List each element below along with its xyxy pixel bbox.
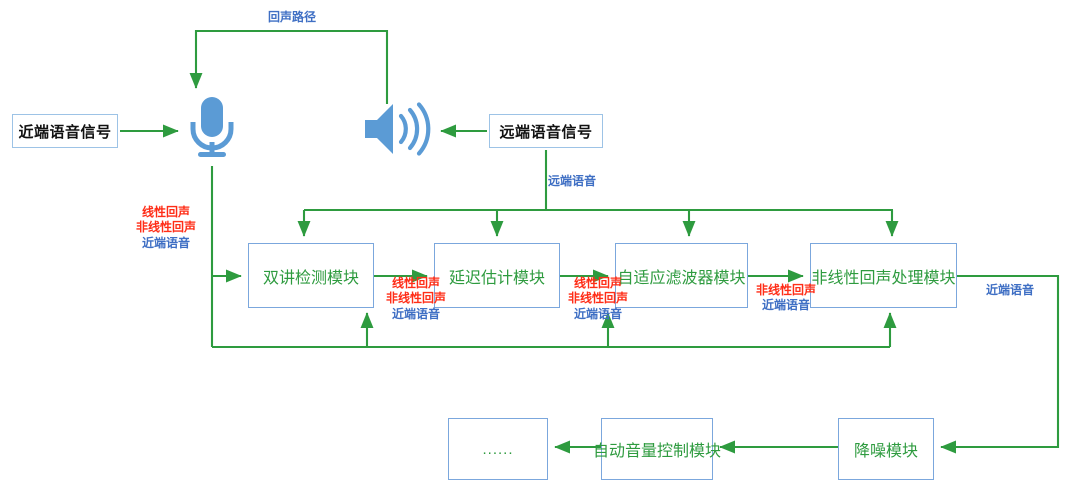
module-label: 非线性回声处理模块 [811, 264, 955, 288]
edge-label-line: 近端语音 [744, 298, 828, 313]
edge-label-dtd-to-delay: 线性回声 非线性回声 近端语音 [374, 276, 458, 322]
edge-label-nlp-output: 近端语音 [970, 283, 1050, 298]
module-label: 降噪模块 [854, 437, 918, 461]
module-automatic-gain-control[interactable]: 自动音量控制模块 [601, 418, 713, 480]
edge-echo-path [196, 31, 387, 104]
module-label: 双讲检测模块 [263, 264, 359, 288]
diagram-canvas: 近端语音信号 远端语音信号 双讲检测模块 延迟估计模块 自适应滤波器模块 非线性… [0, 0, 1080, 498]
edge-label-line: 线性回声 [556, 276, 640, 291]
edge-label-line: 近端语音 [124, 236, 208, 251]
edge-label-echo-path: 回声路径 [234, 10, 350, 25]
edge-label-line: 近端语音 [556, 307, 640, 322]
edge-label-line: 近端语音 [374, 307, 458, 322]
edge-label-delay-to-filter: 线性回声 非线性回声 近端语音 [556, 276, 640, 322]
module-label: ...... [482, 441, 513, 458]
edge-label-far-end-speech: 远端语音 [548, 174, 628, 189]
edge-label-line: 非线性回声 [556, 291, 640, 306]
io-node-label: 远端语音信号 [499, 121, 592, 142]
edge-label-line: 非线性回声 [124, 220, 208, 235]
module-noise-reduction[interactable]: 降噪模块 [838, 418, 934, 480]
module-nonlinear-echo-processing[interactable]: 非线性回声处理模块 [810, 243, 957, 308]
edge-label-line: 非线性回声 [374, 291, 458, 306]
io-node-near-end-signal[interactable]: 近端语音信号 [12, 114, 118, 148]
microphone-icon [186, 96, 238, 160]
module-more[interactable]: ...... [448, 418, 548, 480]
edge-label-line: 非线性回声 [744, 283, 828, 298]
module-label: 延迟估计模块 [449, 264, 545, 288]
edge-nlp-to-noise [941, 276, 1058, 447]
speaker-icon [362, 101, 432, 157]
edge-label-line: 近端语音 [970, 283, 1050, 298]
edge-label-line: 线性回声 [374, 276, 458, 291]
module-double-talk-detection[interactable]: 双讲检测模块 [248, 243, 374, 308]
module-label: 自动音量控制模块 [593, 437, 721, 461]
io-node-far-end-signal[interactable]: 远端语音信号 [489, 114, 603, 148]
edge-label-line: 线性回声 [124, 205, 208, 220]
edge-label-line: 远端语音 [548, 174, 628, 189]
edge-label-mic-output: 线性回声 非线性回声 近端语音 [124, 205, 208, 251]
io-node-label: 近端语音信号 [18, 121, 111, 142]
edge-label-line: 回声路径 [234, 10, 350, 25]
edge-label-filter-to-nlp: 非线性回声 近端语音 [744, 283, 828, 314]
